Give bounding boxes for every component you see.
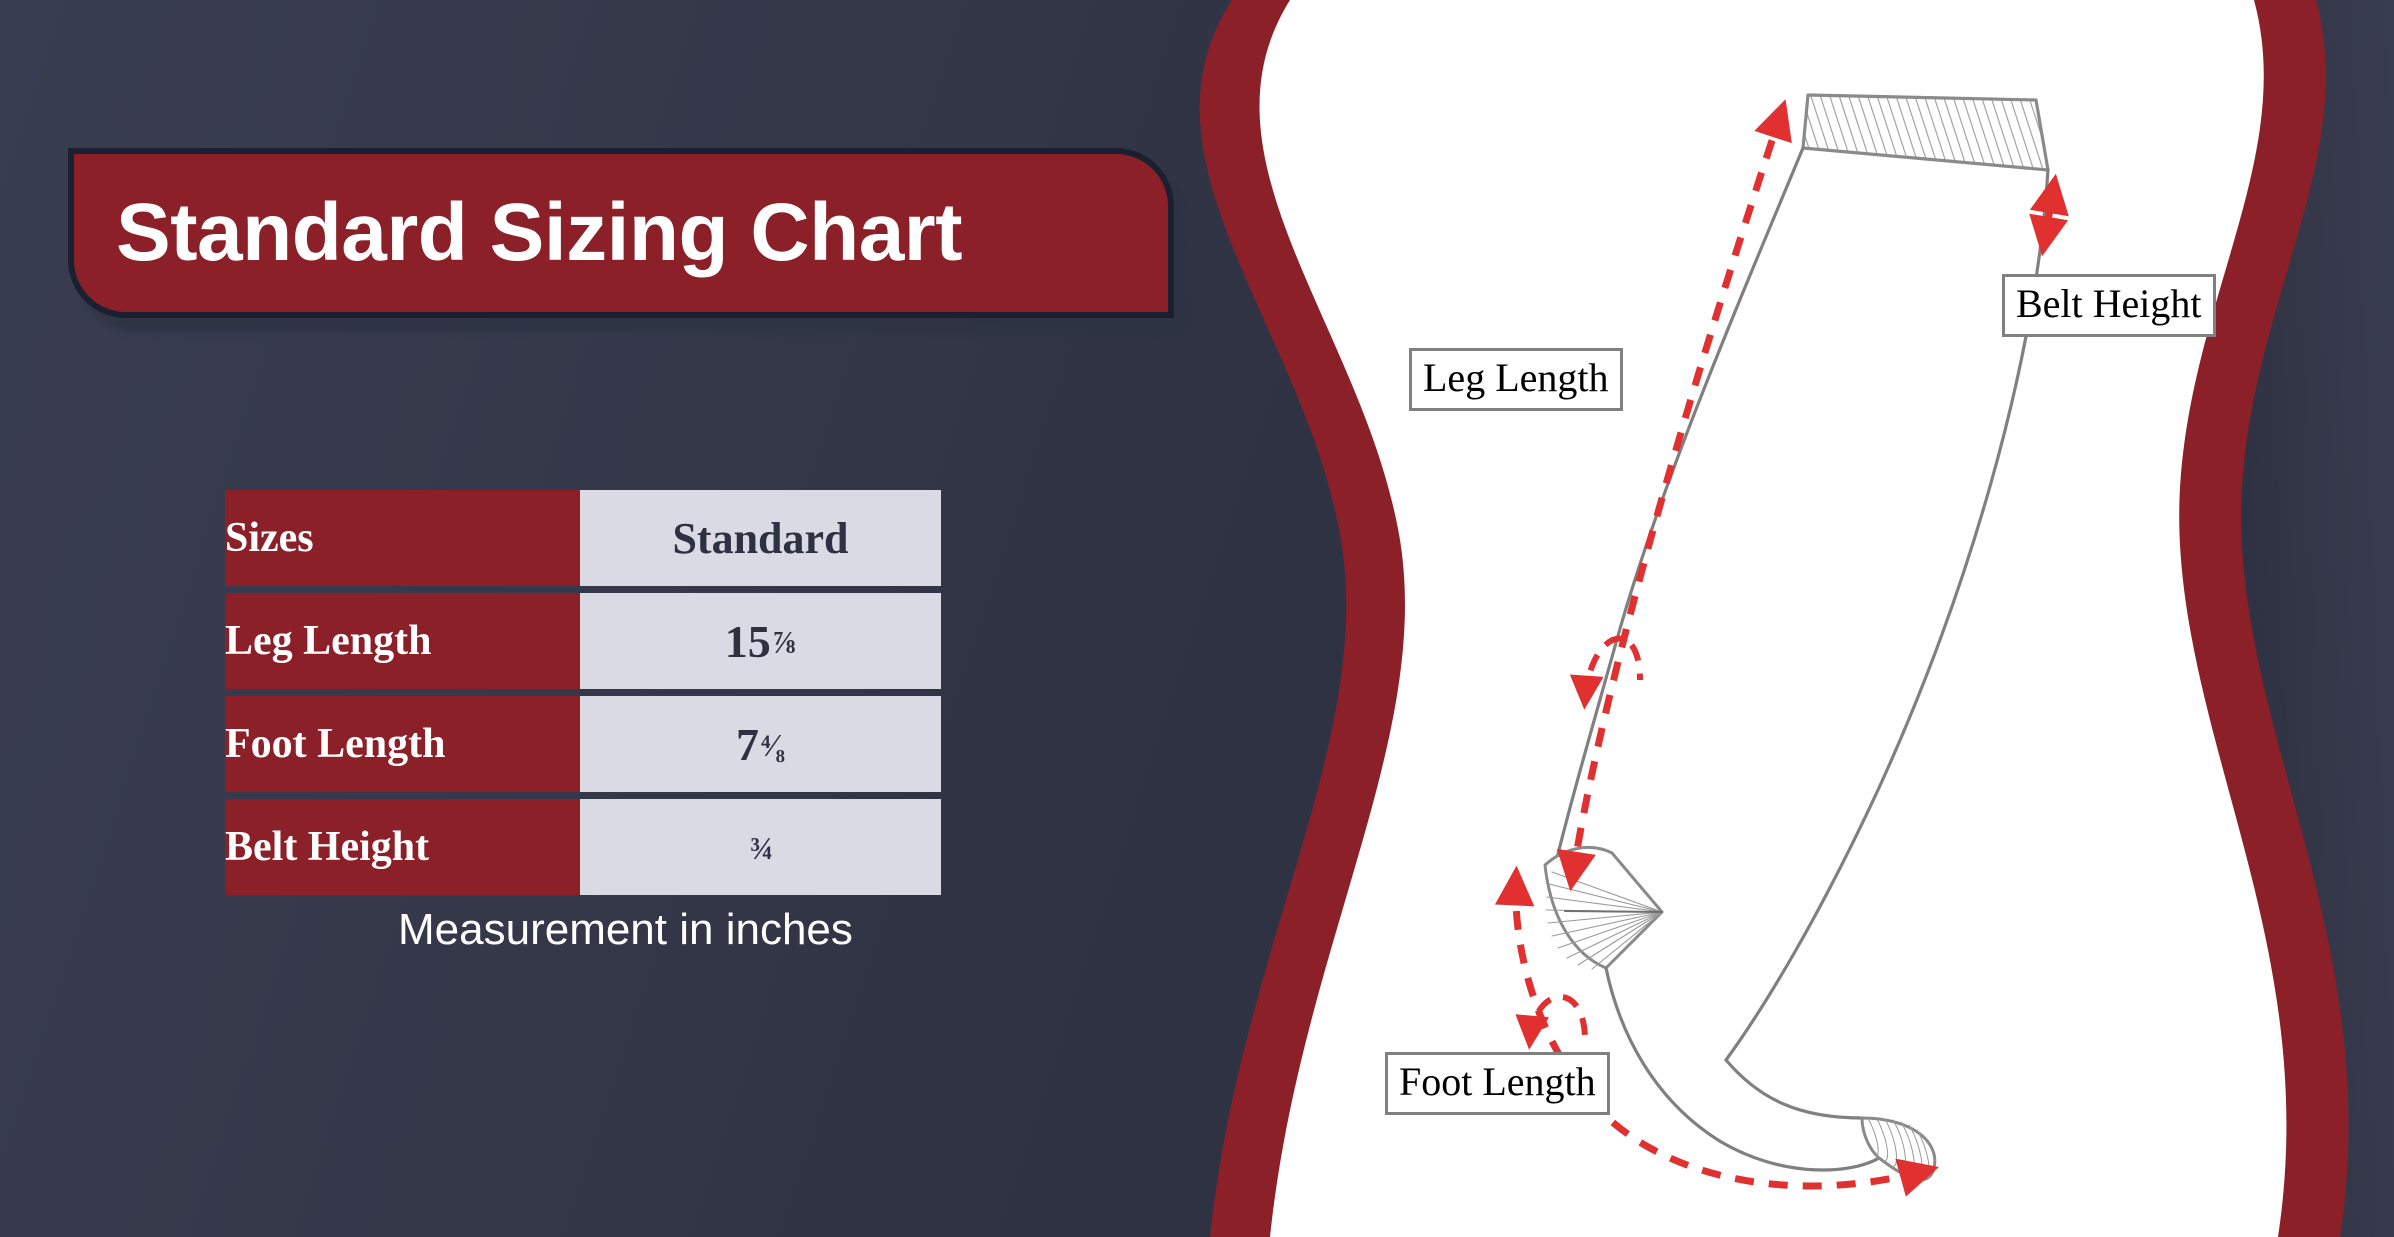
belt-height-fraction: ¾ bbox=[750, 831, 773, 866]
sizing-chart-page: Standard Sizing Chart Sizes Standard Leg… bbox=[0, 0, 2394, 1237]
table-header-row: Sizes Standard bbox=[225, 490, 941, 586]
page-title: Standard Sizing Chart bbox=[74, 192, 962, 274]
diagram-label-foot-length: Foot Length bbox=[1385, 1052, 1610, 1115]
table-header-sizes: Sizes bbox=[225, 490, 580, 586]
table-header-standard: Standard bbox=[580, 490, 941, 586]
row-value-belt-height: ¾ bbox=[580, 799, 941, 895]
row-value-foot-length: 7⁴⁄₈ bbox=[580, 696, 941, 792]
sock-instep-edge bbox=[1726, 1060, 1862, 1118]
row-label-foot-length: Foot Length bbox=[225, 696, 580, 792]
table-row: Leg Length 15⅞ bbox=[225, 593, 941, 689]
sock-toe-cap bbox=[1862, 1118, 1935, 1180]
sock-sole-edge bbox=[1606, 968, 1879, 1170]
sizing-table: Sizes Standard Leg Length 15⅞ Foot Lengt… bbox=[225, 483, 941, 902]
table-row: Foot Length 7⁴⁄₈ bbox=[225, 696, 941, 792]
leg-length-fraction: ⅞ bbox=[773, 625, 796, 660]
sock-cuff-rib bbox=[1803, 95, 2048, 170]
table-row: Belt Height ¾ bbox=[225, 799, 941, 895]
title-banner-fill: Standard Sizing Chart bbox=[74, 154, 1168, 312]
leg-length-arrow bbox=[1572, 110, 1782, 880]
measurement-arrows bbox=[1516, 110, 2054, 1186]
title-banner: Standard Sizing Chart bbox=[68, 148, 1174, 318]
row-label-belt-height: Belt Height bbox=[225, 799, 580, 895]
row-label-leg-length: Leg Length bbox=[225, 593, 580, 689]
diagram-label-belt-height: Belt Height bbox=[2002, 274, 2216, 337]
foot-length-fraction: ⁴⁄₈ bbox=[761, 728, 785, 763]
diagram-label-leg-length: Leg Length bbox=[1409, 348, 1623, 411]
row-value-leg-length: 15⅞ bbox=[580, 593, 941, 689]
sock-leg-back-edge bbox=[1726, 170, 2048, 1060]
leg-length-whole: 15 bbox=[725, 616, 771, 667]
sock-leg-front-edge bbox=[1556, 148, 1803, 862]
measurement-units-note: Measurement in inches bbox=[398, 905, 853, 955]
foot-length-whole: 7 bbox=[736, 719, 759, 770]
leg-length-leader bbox=[1585, 639, 1640, 700]
